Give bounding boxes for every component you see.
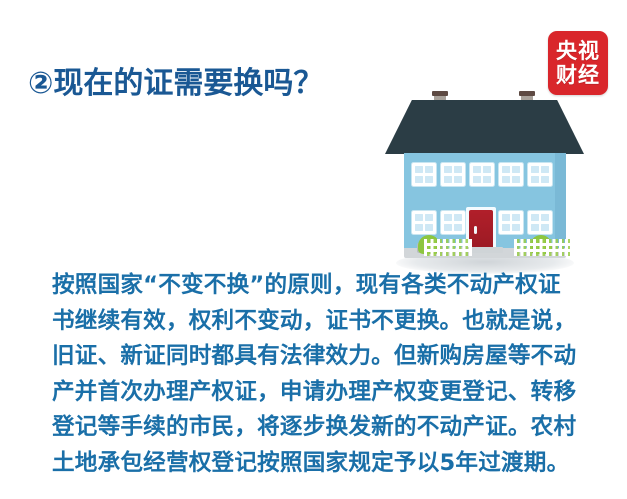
window-lower-3 (499, 211, 523, 234)
chimney-cap (432, 91, 448, 96)
house-walls (404, 153, 566, 248)
body-line: 旧证、新证同时都具有法律效力。但新购房屋等不动 (52, 339, 592, 375)
window-lower-1 (412, 211, 436, 234)
front-door (469, 210, 493, 248)
wall-shadow (555, 153, 566, 248)
body-line: 按照国家“不变不换”的原则，现有各类不动产权证 (52, 268, 592, 304)
roof (385, 100, 584, 154)
window-upper-2 (441, 163, 465, 186)
body-line: 书继续有效，权利不变动，证书不更换。也就是说， (52, 304, 592, 340)
window-upper-1 (412, 163, 436, 186)
chimney-cap (519, 91, 535, 96)
picket-fence-left-icon (424, 239, 472, 256)
window-upper-5 (528, 163, 552, 186)
logo-line-1: 央视 (556, 39, 600, 63)
window-lower-2 (441, 211, 465, 234)
body-line: 产并首次办理产权证，申请办理产权变更登记、转移 (52, 375, 592, 411)
logo-line-2: 财经 (556, 63, 600, 87)
door-handle-icon (474, 226, 477, 234)
picket-fence-right-icon (514, 239, 570, 256)
page-title: ②现在的证需要换吗？ (28, 63, 323, 105)
window-upper-4 (499, 163, 523, 186)
window-lower-4 (528, 211, 552, 234)
body-line: 登记等手续的市民，将逐步换发新的不动产证。农村 (52, 410, 592, 446)
window-upper-3 (470, 163, 494, 186)
body-line: 土地承包经营权登记按照国家规定予以5年过渡期。 (52, 446, 592, 482)
house-illustration (382, 86, 588, 280)
body-paragraph: 按照国家“不变不换”的原则，现有各类不动产权证 书继续有效，权利不变动，证书不更… (52, 268, 592, 482)
infographic-canvas: 央视 财经 ②现在的证需要换吗？ (0, 0, 627, 499)
